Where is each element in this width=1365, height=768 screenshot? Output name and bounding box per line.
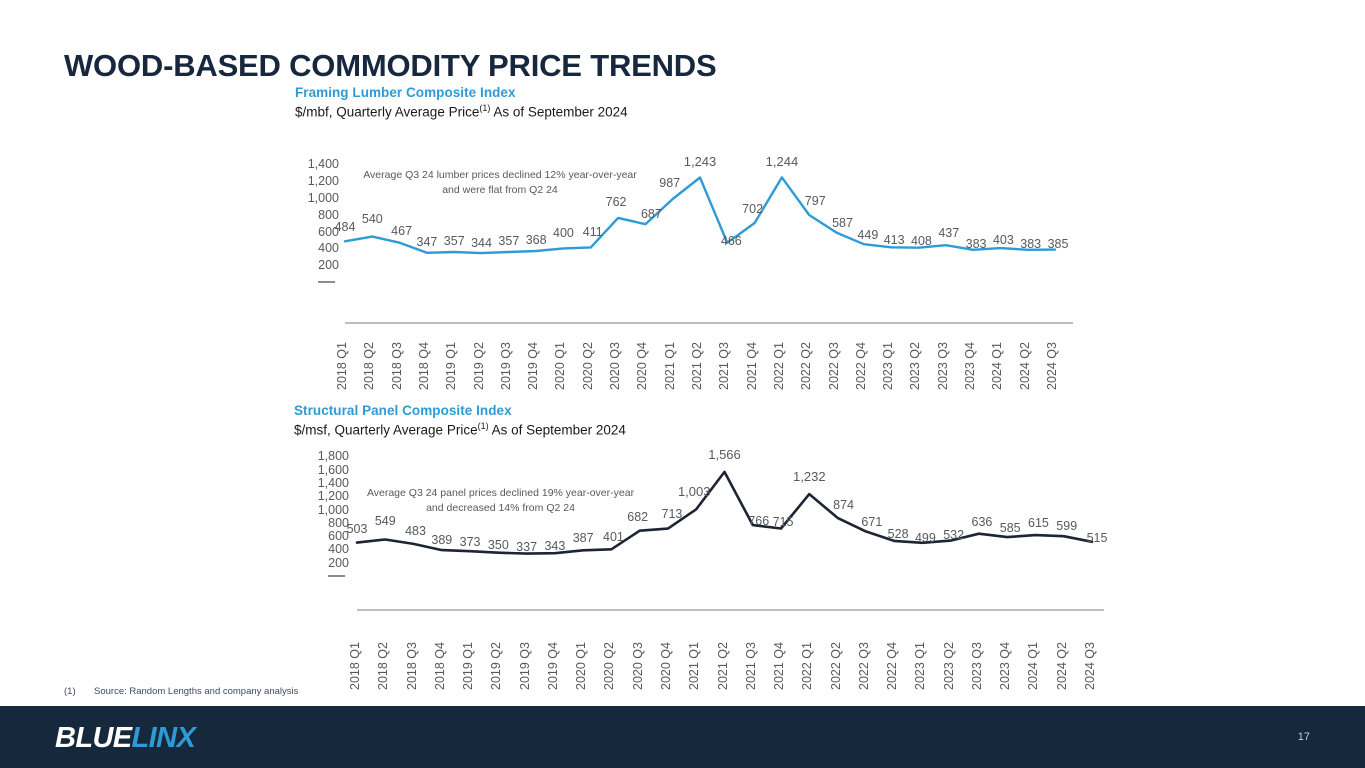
x-axis-tick-label: 2018 Q3 [405, 642, 419, 690]
data-point-label: 615 [1028, 516, 1049, 530]
x-axis-tick-label: 2019 Q4 [546, 642, 560, 690]
data-point-label: 368 [526, 233, 547, 247]
x-axis-tick-label: 2018 Q1 [335, 342, 349, 390]
x-axis-tick-label: 2018 Q4 [417, 342, 431, 390]
x-axis-tick-label: 2022 Q2 [829, 642, 843, 690]
data-point-label: 383 [1020, 237, 1041, 251]
x-axis-tick-label: 2022 Q3 [857, 642, 871, 690]
x-axis-tick-label: 2023 Q2 [942, 642, 956, 690]
data-point-label: 797 [805, 194, 826, 208]
y-axis-tick-label: 1,000 [308, 191, 339, 205]
x-axis-tick-label: 2021 Q4 [772, 642, 786, 690]
data-point-label: 671 [861, 515, 882, 529]
x-axis-tick-label: 2020 Q1 [553, 342, 567, 390]
data-point-label: 528 [888, 527, 909, 541]
data-point-label: 1,244 [766, 154, 799, 169]
data-point-label: 387 [573, 531, 594, 545]
chart-block-structural-panel: Structural Panel Composite Index $/msf, … [294, 403, 626, 438]
x-axis-tick-label: 2021 Q1 [663, 342, 677, 390]
x-axis-tick-label: 2021 Q2 [716, 642, 730, 690]
data-point-label: 1,243 [684, 154, 717, 169]
page-number: 17 [1298, 731, 1310, 743]
data-point-label: 1,566 [708, 447, 741, 462]
x-axis-tick-label: 2024 Q3 [1083, 642, 1097, 690]
x-axis-tick-label: 2019 Q3 [499, 342, 513, 390]
data-point-label: 347 [416, 235, 437, 249]
data-point-label: 532 [943, 528, 964, 542]
y-axis-zero-dash [318, 281, 335, 283]
x-axis-tick-label: 2022 Q3 [827, 342, 841, 390]
chart1-subheading: $/mbf, Quarterly Average Price(1) As of … [295, 103, 628, 120]
y-axis-zero-dash [328, 575, 345, 577]
y-axis-tick-label: 1,000 [318, 503, 349, 517]
x-axis-tick-label: 2018 Q2 [376, 642, 390, 690]
chart-block-framing-lumber: Framing Lumber Composite Index $/mbf, Qu… [295, 85, 628, 120]
chart1-subheading-prefix: $/mbf, Quarterly Average Price [295, 105, 479, 120]
x-axis-tick-label: 2024 Q1 [990, 342, 1004, 390]
page-title: WOOD-BASED COMMODITY PRICE TRENDS [64, 48, 716, 84]
x-axis-tick-label: 2020 Q3 [608, 342, 622, 390]
footnote-text: Source: Random Lengths and company analy… [94, 686, 298, 697]
x-axis-tick-label: 2020 Q4 [659, 642, 673, 690]
y-axis-tick-label: 1,800 [318, 449, 349, 463]
x-axis-tick-label: 2022 Q2 [799, 342, 813, 390]
data-point-label: 702 [742, 202, 763, 216]
x-axis-tick-label: 2020 Q2 [602, 642, 616, 690]
data-point-label: 357 [498, 234, 519, 248]
data-point-label: 1,232 [793, 469, 826, 484]
x-axis-tick-label: 2020 Q2 [581, 342, 595, 390]
data-point-label: 385 [1048, 237, 1069, 251]
data-point-label: 874 [833, 498, 854, 512]
y-axis-tick-label: 1,200 [308, 174, 339, 188]
data-point-label: 987 [659, 176, 680, 190]
data-point-label: 389 [431, 533, 452, 547]
x-axis-tick-label: 2018 Q4 [433, 642, 447, 690]
chart1-y-axis: 1,4001,2001,000800600400200 [295, 155, 339, 390]
chart2-x-axis-labels: 2018 Q12018 Q22018 Q32018 Q42019 Q12019 … [358, 630, 1103, 690]
y-axis-tick-label: 400 [318, 241, 339, 255]
data-point-label: 411 [583, 225, 603, 239]
chart2-subheading-suffix: As of September 2024 [489, 423, 626, 438]
x-axis-tick-label: 2024 Q2 [1055, 642, 1069, 690]
data-point-label: 350 [488, 538, 509, 552]
x-axis-tick-label: 2023 Q2 [908, 342, 922, 390]
x-axis-tick-label: 2019 Q3 [518, 642, 532, 690]
y-axis-tick-label: 200 [328, 556, 349, 570]
y-axis-tick-label: 400 [328, 542, 349, 556]
x-axis-tick-label: 2021 Q3 [717, 342, 731, 390]
x-axis-tick-label: 2024 Q1 [1026, 642, 1040, 690]
x-axis-tick-label: 2018 Q3 [390, 342, 404, 390]
logo-blue-text: BLUE [55, 722, 132, 754]
x-axis-tick-label: 2021 Q3 [744, 642, 758, 690]
chart2-annotation: Average Q3 24 panel prices declined 19% … [363, 486, 638, 516]
x-axis-tick-label: 2021 Q4 [745, 342, 759, 390]
data-point-label: 344 [471, 236, 492, 250]
data-point-label: 357 [444, 234, 465, 248]
x-axis-line [357, 609, 1104, 611]
data-point-label: 437 [938, 226, 959, 240]
x-axis-tick-label: 2022 Q1 [800, 642, 814, 690]
data-point-label: 515 [1087, 531, 1108, 545]
x-axis-tick-label: 2023 Q3 [970, 642, 984, 690]
data-point-label: 1,003 [678, 484, 711, 499]
data-point-label: 499 [915, 531, 936, 545]
x-axis-tick-label: 2022 Q4 [854, 342, 868, 390]
footnote: (1)Source: Random Lengths and company an… [64, 686, 298, 697]
y-axis-tick-label: 1,400 [308, 157, 339, 171]
chart1-subheading-suffix: As of September 2024 [490, 105, 627, 120]
x-axis-tick-label: 2020 Q4 [635, 342, 649, 390]
x-axis-tick-label: 2024 Q2 [1018, 342, 1032, 390]
x-axis-line [345, 322, 1073, 324]
data-point-label: 343 [544, 539, 565, 553]
x-axis-tick-label: 2020 Q1 [574, 642, 588, 690]
data-point-label: 484 [335, 220, 356, 234]
data-point-label: 408 [911, 234, 932, 248]
x-axis-tick-label: 2021 Q1 [687, 642, 701, 690]
data-point-label: 687 [641, 207, 662, 221]
x-axis-tick-label: 2023 Q1 [881, 342, 895, 390]
chart2-subheading: $/msf, Quarterly Average Price(1) As of … [294, 421, 626, 438]
x-axis-tick-label: 2020 Q3 [631, 642, 645, 690]
x-axis-tick-label: 2019 Q1 [444, 342, 458, 390]
footnote-marker: (1) [64, 686, 94, 697]
data-point-label: 503 [347, 522, 368, 536]
x-axis-tick-label: 2019 Q4 [526, 342, 540, 390]
x-axis-tick-label: 2022 Q4 [885, 642, 899, 690]
data-point-label: 599 [1056, 519, 1077, 533]
bluelinx-logo: BLUELINX [55, 722, 195, 755]
logo-linx-text: LINX [132, 722, 196, 754]
chart2-plot-wrapper: 1,8001,6001,4001,2001,000800600400200 50… [305, 447, 1105, 622]
data-point-label: 337 [516, 540, 537, 554]
x-axis-tick-label: 2023 Q3 [936, 342, 950, 390]
data-point-label: 403 [993, 233, 1014, 247]
data-point-label: 401 [603, 530, 624, 544]
slide-footer: BLUELINX 17 [0, 706, 1365, 768]
x-axis-tick-label: 2023 Q4 [998, 642, 1012, 690]
y-axis-tick-label: 200 [318, 258, 339, 272]
chart2-footnote-ref: (1) [478, 421, 489, 431]
x-axis-tick-label: 2021 Q2 [690, 342, 704, 390]
x-axis-tick-label: 2023 Q4 [963, 342, 977, 390]
slide-root: WOOD-BASED COMMODITY PRICE TRENDS Framin… [0, 0, 1365, 768]
data-point-label: 766 [748, 514, 769, 528]
chart1-heading: Framing Lumber Composite Index [295, 85, 628, 100]
chart1-x-axis-labels: 2018 Q12018 Q22018 Q32018 Q42019 Q12019 … [345, 330, 1075, 390]
data-point-label: 715 [773, 515, 794, 529]
x-axis-tick-label: 2018 Q2 [362, 342, 376, 390]
y-axis-tick-label: 1,400 [318, 476, 349, 490]
data-point-label: 466 [721, 234, 742, 248]
chart2-heading: Structural Panel Composite Index [294, 403, 626, 418]
chart1-footnote-ref: (1) [479, 103, 490, 113]
x-axis-tick-label: 2019 Q1 [461, 642, 475, 690]
x-axis-tick-label: 2018 Q1 [348, 642, 362, 690]
chart2-y-axis: 1,8001,6001,4001,2001,000800600400200 [305, 447, 349, 622]
x-axis-tick-label: 2022 Q1 [772, 342, 786, 390]
data-point-label: 413 [884, 233, 905, 247]
x-axis-tick-label: 2019 Q2 [489, 642, 503, 690]
data-point-label: 636 [971, 515, 992, 529]
x-axis-tick-label: 2023 Q1 [913, 642, 927, 690]
data-point-label: 540 [362, 212, 383, 226]
y-axis-tick-label: 1,200 [318, 489, 349, 503]
data-point-label: 713 [662, 507, 683, 521]
chart2-subheading-prefix: $/msf, Quarterly Average Price [294, 423, 478, 438]
data-point-label: 449 [857, 228, 878, 242]
data-point-label: 587 [832, 216, 853, 230]
data-point-label: 549 [375, 514, 396, 528]
x-axis-tick-label: 2019 Q2 [472, 342, 486, 390]
x-axis-tick-label: 2024 Q3 [1045, 342, 1059, 390]
data-point-label: 400 [553, 226, 574, 240]
data-point-label: 383 [966, 237, 987, 251]
data-point-label: 467 [391, 224, 412, 238]
data-point-label: 585 [1000, 521, 1021, 535]
data-point-label: 483 [405, 524, 426, 538]
data-point-label: 373 [460, 535, 481, 549]
y-axis-tick-label: 1,600 [318, 463, 349, 477]
chart1-annotation: Average Q3 24 lumber prices declined 12%… [355, 168, 645, 198]
